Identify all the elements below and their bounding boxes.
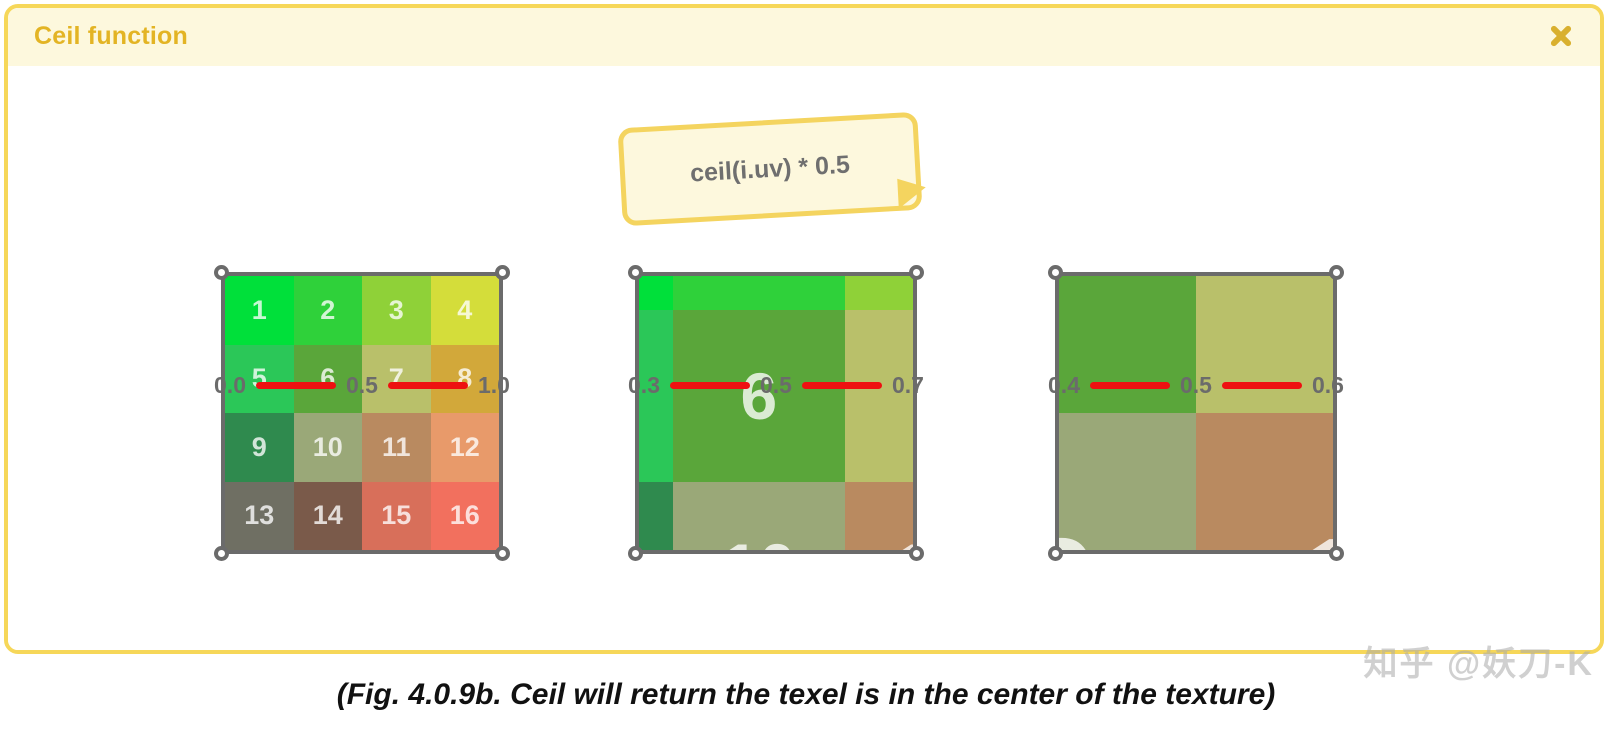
handle-bottom-right[interactable]	[495, 546, 510, 561]
texture-clip: 12345678910111213141516	[225, 276, 499, 550]
figure-page: Ceil function ceil(i.uv) * 0.5 123456789…	[0, 0, 1612, 748]
handle-bottom-right[interactable]	[909, 546, 924, 561]
texel-label: 1	[252, 295, 267, 326]
scale-value-mid: 0.5	[760, 372, 792, 399]
texel-cell: 13	[225, 482, 294, 551]
texel-cell: 3	[845, 276, 914, 310]
texel-label: 12	[450, 432, 480, 463]
texture-figure-zoom-mid: 12345678910111213141516	[635, 272, 917, 554]
handle-top-left[interactable]	[628, 265, 643, 280]
page-title: Ceil function	[34, 22, 188, 51]
texel-cell: 10	[294, 413, 363, 482]
texel-label: 11	[1297, 509, 1333, 550]
handle-top-right[interactable]	[909, 265, 924, 280]
panel-body: ceil(i.uv) * 0.5 12345678910111213141516	[8, 66, 1600, 652]
handle-top-right[interactable]	[1329, 265, 1344, 280]
close-icon[interactable]	[1546, 21, 1576, 51]
texture-frame: 12345678910111213141516	[635, 272, 917, 554]
texel-label: 14	[313, 500, 343, 531]
texel-cell: 1	[225, 276, 294, 345]
figure-caption: (Fig. 4.0.9b. Ceil will return the texel…	[0, 678, 1612, 712]
texel-label: 11	[895, 529, 913, 550]
texel-label: 3	[389, 295, 404, 326]
texel-label: 10	[1059, 509, 1098, 550]
texture-figure-full: 12345678910111213141516	[221, 272, 503, 554]
texel-cell: 2	[673, 276, 844, 310]
handle-top-left[interactable]	[214, 265, 229, 280]
scale-bar-right	[802, 382, 882, 389]
scale-bar-left	[1090, 382, 1170, 389]
texture-grid: 12345678910111213141516	[639, 276, 913, 550]
texel-cell: 10	[1059, 413, 1196, 550]
texel-label: 2	[320, 295, 335, 326]
texture-grid: 12345678910111213141516	[225, 276, 499, 550]
handle-bottom-left[interactable]	[214, 546, 229, 561]
texture-frame: 12345678910111213141516	[221, 272, 503, 554]
texel-cell: 9	[225, 413, 294, 482]
texture-clip: 12345678910111213141516	[1059, 276, 1333, 550]
texel-cell: 9	[639, 482, 673, 551]
texel-label: 10	[722, 529, 795, 550]
texel-cell: 11	[845, 482, 914, 551]
texel-label: 9	[252, 432, 267, 463]
texel-cell: 16	[431, 482, 500, 551]
formula-bubble: ceil(i.uv) * 0.5	[617, 112, 922, 227]
texel-label: 16	[450, 500, 480, 531]
texel-cell: 11	[362, 413, 431, 482]
texel-cell: 2	[294, 276, 363, 345]
scale-bar-left	[256, 382, 336, 389]
scale-value-left: 0.4	[1048, 372, 1080, 399]
texture-frame: 12345678910111213141516	[1055, 272, 1337, 554]
handle-bottom-left[interactable]	[628, 546, 643, 561]
texture-clip: 12345678910111213141516	[639, 276, 913, 550]
texel-cell: 15	[362, 482, 431, 551]
texel-cell: 14	[294, 482, 363, 551]
ceil-function-panel: Ceil function ceil(i.uv) * 0.5 123456789…	[4, 4, 1604, 654]
texel-cell: 1	[639, 276, 673, 310]
texture-grid: 12345678910111213141516	[1059, 276, 1333, 550]
texel-cell: 10	[673, 482, 844, 551]
texture-figure-zoom-deep: 12345678910111213141516	[1055, 272, 1337, 554]
formula-text: ceil(i.uv) * 0.5	[689, 150, 850, 188]
texel-label: 4	[457, 295, 472, 326]
uv-scale-full: 0.0 0.5 1.0	[202, 372, 522, 399]
scale-bar-right	[388, 382, 468, 389]
handle-top-right[interactable]	[495, 265, 510, 280]
texel-cell: 11	[1196, 413, 1333, 550]
texel-label: 15	[381, 500, 411, 531]
texel-label: 6	[1059, 276, 1061, 317]
scale-value-mid: 0.5	[1180, 372, 1212, 399]
handle-bottom-left[interactable]	[1048, 546, 1063, 561]
handle-top-left[interactable]	[1048, 265, 1063, 280]
texel-cell: 3	[362, 276, 431, 345]
formula-callout: ceil(i.uv) * 0.5	[615, 112, 935, 232]
handle-bottom-right[interactable]	[1329, 546, 1344, 561]
uv-scale-zoom-deep: 0.4 0.5 0.6	[1036, 372, 1356, 399]
scale-value-mid: 0.5	[346, 372, 378, 399]
scale-bar-left	[670, 382, 750, 389]
texel-cell: 12	[431, 413, 500, 482]
texel-label: 7	[1331, 276, 1333, 317]
bubble-tail-icon	[897, 177, 927, 208]
scale-bar-right	[1222, 382, 1302, 389]
scale-value-left: 0.3	[628, 372, 660, 399]
scale-value-right: 1.0	[478, 372, 510, 399]
texel-label: 10	[313, 432, 343, 463]
panel-header: Ceil function	[8, 8, 1600, 66]
scale-value-left: 0.0	[214, 372, 246, 399]
scale-value-right: 0.7	[892, 372, 924, 399]
scale-value-right: 0.6	[1312, 372, 1344, 399]
texel-cell: 4	[431, 276, 500, 345]
texel-label: 13	[244, 500, 274, 531]
uv-scale-zoom-mid: 0.3 0.5 0.7	[616, 372, 936, 399]
texel-label: 11	[382, 432, 411, 463]
